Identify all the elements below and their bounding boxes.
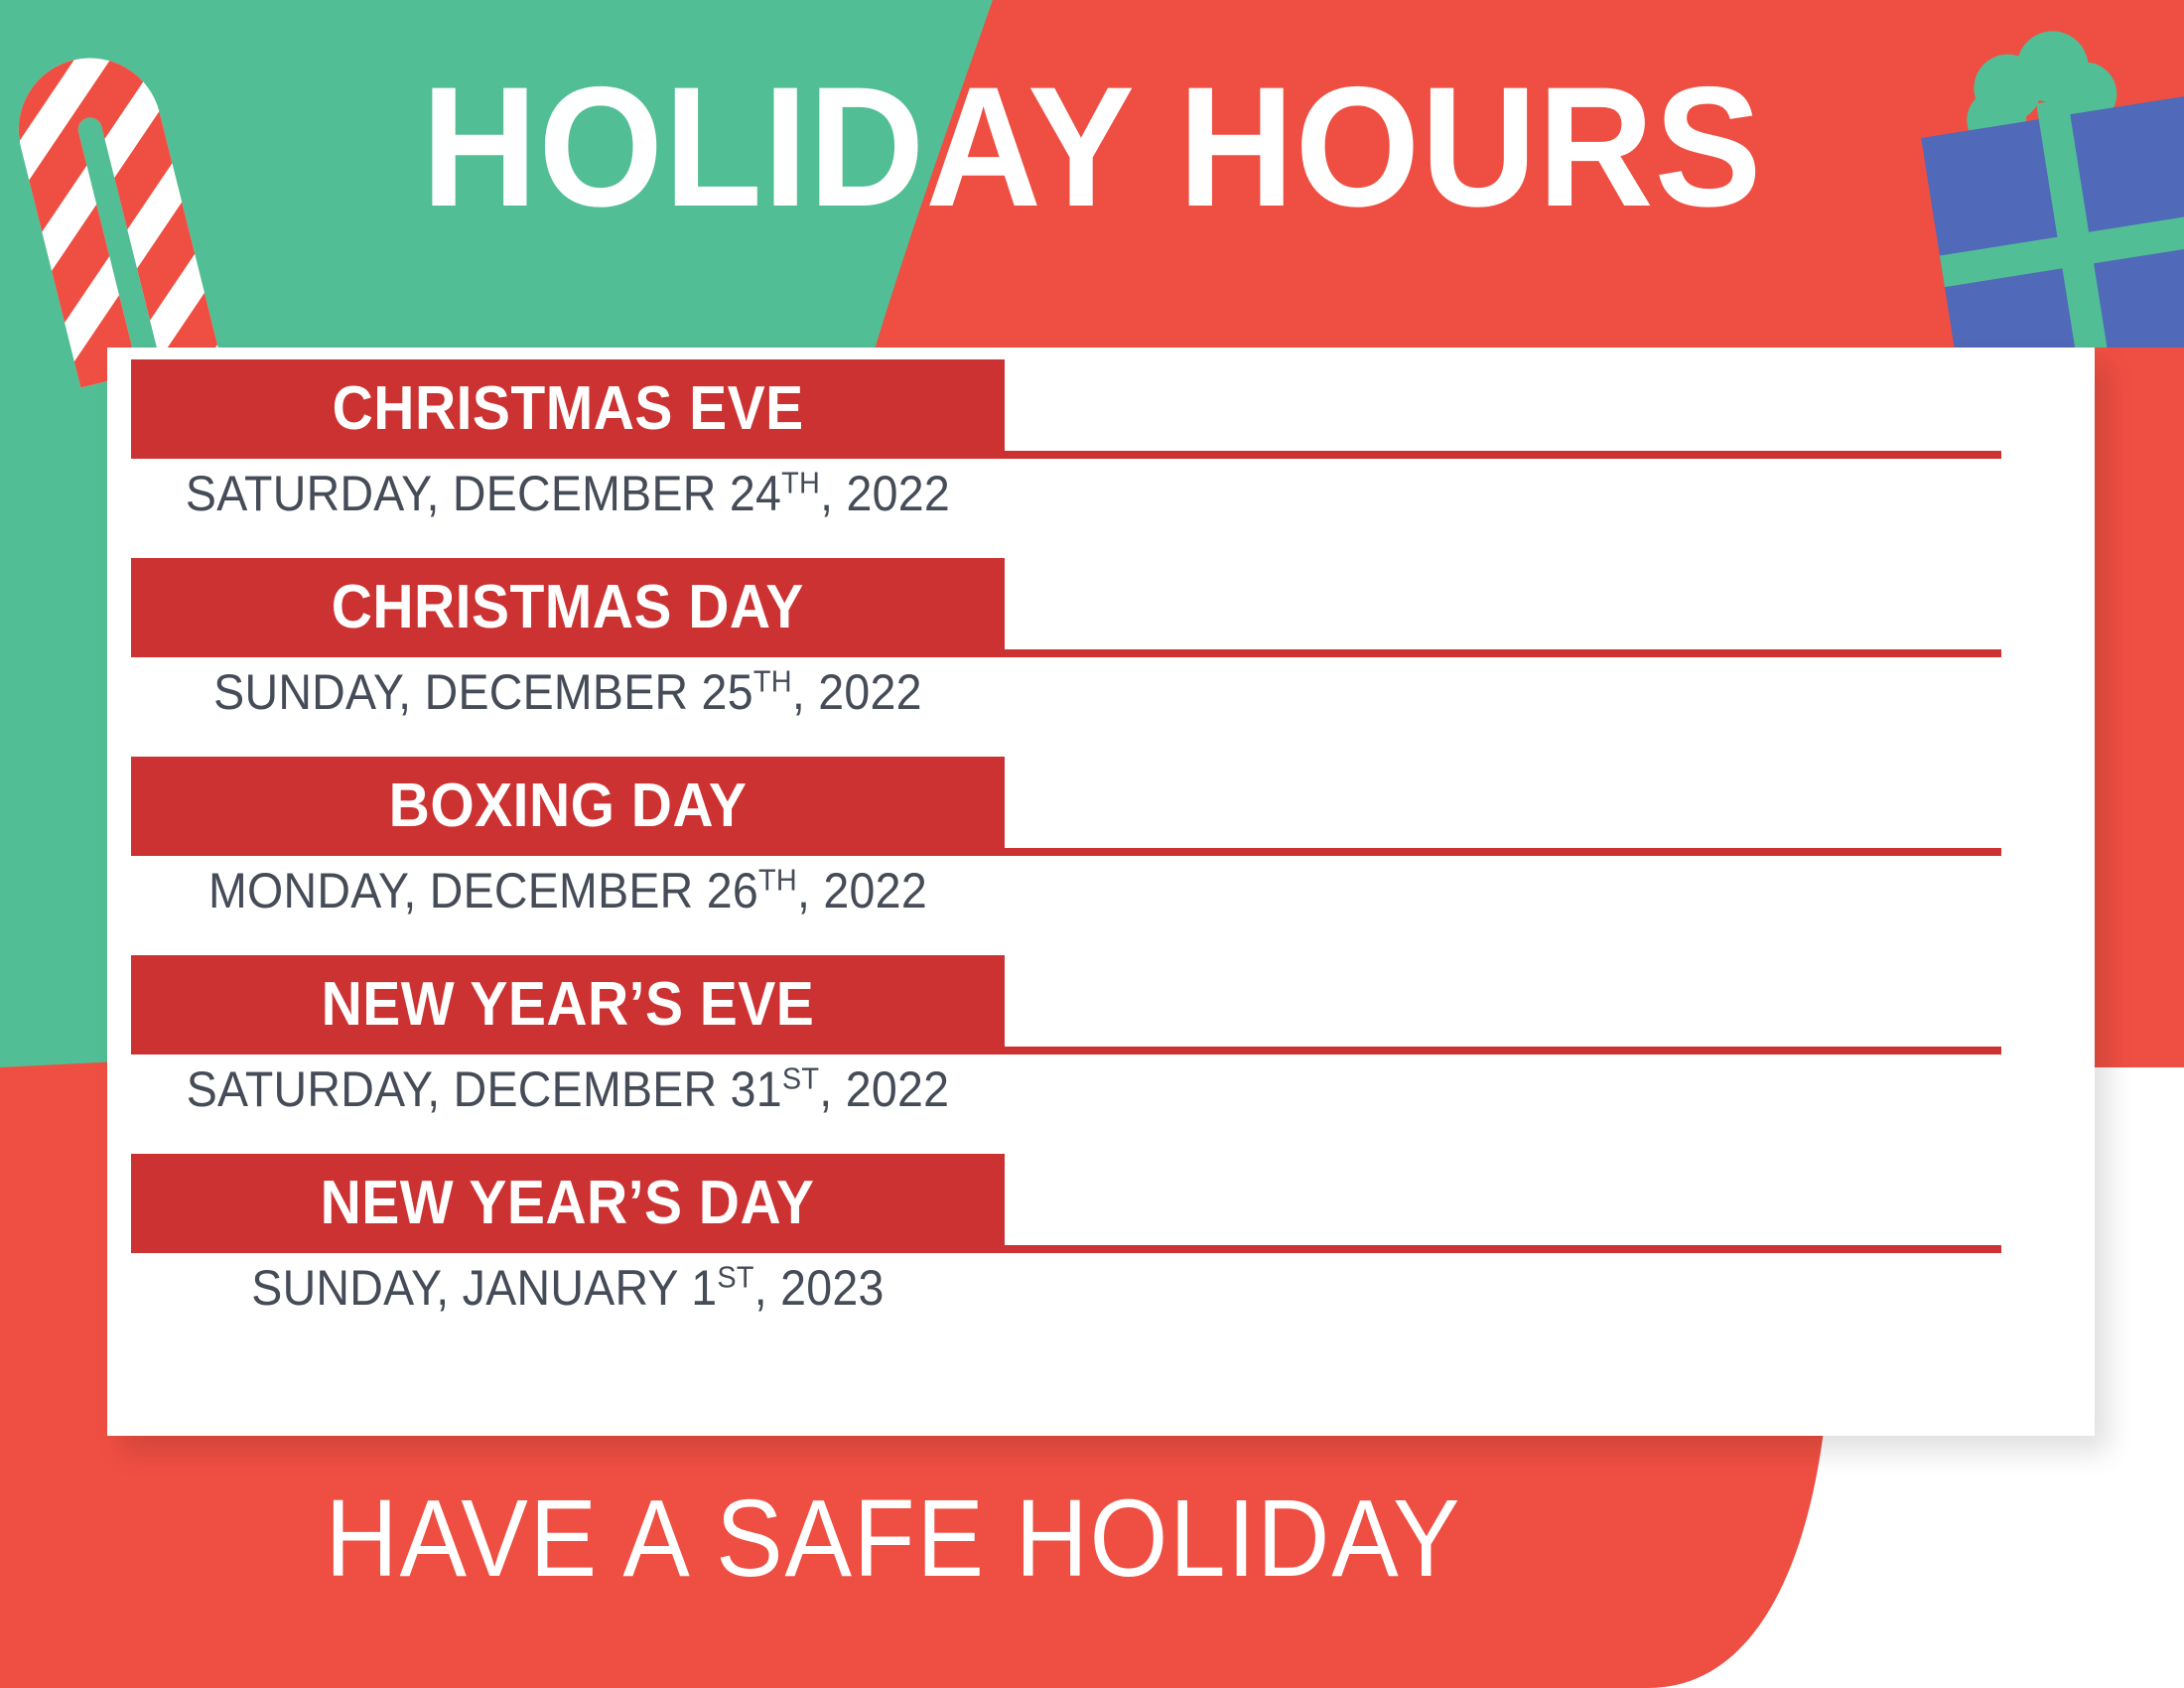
holiday-label: BOXING DAY xyxy=(389,775,748,837)
holiday-date: SATURDAY, DECEMBER 31ST, 2022 xyxy=(162,1062,974,1117)
date-ordinal: TH xyxy=(758,862,797,897)
date-suffix: , 2022 xyxy=(820,466,950,521)
holiday-band: BOXING DAY xyxy=(131,757,1005,856)
date-suffix: , 2022 xyxy=(797,863,927,918)
hours-row: BOXING DAY MONDAY, DECEMBER 26TH, 2022 xyxy=(107,757,2095,960)
holiday-band: CHRISTMAS EVE xyxy=(131,359,1005,459)
holiday-label: NEW YEAR’S EVE xyxy=(322,974,815,1036)
holiday-label: CHRISTMAS DAY xyxy=(332,577,804,638)
date-suffix: , 2023 xyxy=(754,1260,885,1316)
hours-row: CHRISTMAS DAY SUNDAY, DECEMBER 25TH, 202… xyxy=(107,558,2095,762)
footer-message: HAVE A SAFE HOLIDAY xyxy=(71,1484,1715,1594)
hours-row: CHRISTMAS EVE SATURDAY, DECEMBER 24TH, 2… xyxy=(107,359,2095,563)
date-prefix: SATURDAY, DECEMBER 31 xyxy=(187,1061,782,1117)
date-suffix: , 2022 xyxy=(819,1061,949,1117)
holiday-hours-poster: HOLIDAY HOURS CHRISTMAS EVE SATURDAY, DE… xyxy=(0,0,2184,1688)
holiday-date: SUNDAY, DECEMBER 25TH, 2022 xyxy=(162,665,974,720)
date-prefix: MONDAY, DECEMBER 26 xyxy=(208,863,758,918)
holiday-band: NEW YEAR’S DAY xyxy=(131,1154,1005,1253)
hours-rule xyxy=(1005,848,2001,856)
hours-rule xyxy=(1005,1047,2001,1055)
holiday-label: NEW YEAR’S DAY xyxy=(321,1173,815,1234)
holiday-band: CHRISTMAS DAY xyxy=(131,558,1005,657)
holiday-date: MONDAY, DECEMBER 26TH, 2022 xyxy=(162,864,974,918)
hours-rule xyxy=(1005,649,2001,657)
holiday-label: CHRISTMAS EVE xyxy=(332,378,803,440)
hours-rule xyxy=(1005,451,2001,459)
date-ordinal: TH xyxy=(753,663,792,698)
page-title: HOLIDAY HOURS xyxy=(66,62,2118,232)
hours-card: CHRISTMAS EVE SATURDAY, DECEMBER 24TH, 2… xyxy=(107,348,2095,1436)
holiday-date: SUNDAY, JANUARY 1ST, 2023 xyxy=(162,1261,974,1316)
date-prefix: SUNDAY, JANUARY 1 xyxy=(251,1260,717,1316)
date-ordinal: ST xyxy=(782,1060,819,1095)
date-ordinal: ST xyxy=(717,1259,753,1294)
date-ordinal: TH xyxy=(781,465,820,499)
hours-row: NEW YEAR’S DAY SUNDAY, JANUARY 1ST, 2023 xyxy=(107,1154,2095,1357)
date-suffix: , 2022 xyxy=(792,664,922,720)
hours-row: NEW YEAR’S EVE SATURDAY, DECEMBER 31ST, … xyxy=(107,955,2095,1159)
date-prefix: SATURDAY, DECEMBER 24 xyxy=(186,466,781,521)
holiday-band: NEW YEAR’S EVE xyxy=(131,955,1005,1055)
date-prefix: SUNDAY, DECEMBER 25 xyxy=(213,664,753,720)
holiday-date: SATURDAY, DECEMBER 24TH, 2022 xyxy=(162,467,974,521)
hours-rule xyxy=(1005,1245,2001,1253)
hours-list: CHRISTMAS EVE SATURDAY, DECEMBER 24TH, 2… xyxy=(107,348,2095,1436)
